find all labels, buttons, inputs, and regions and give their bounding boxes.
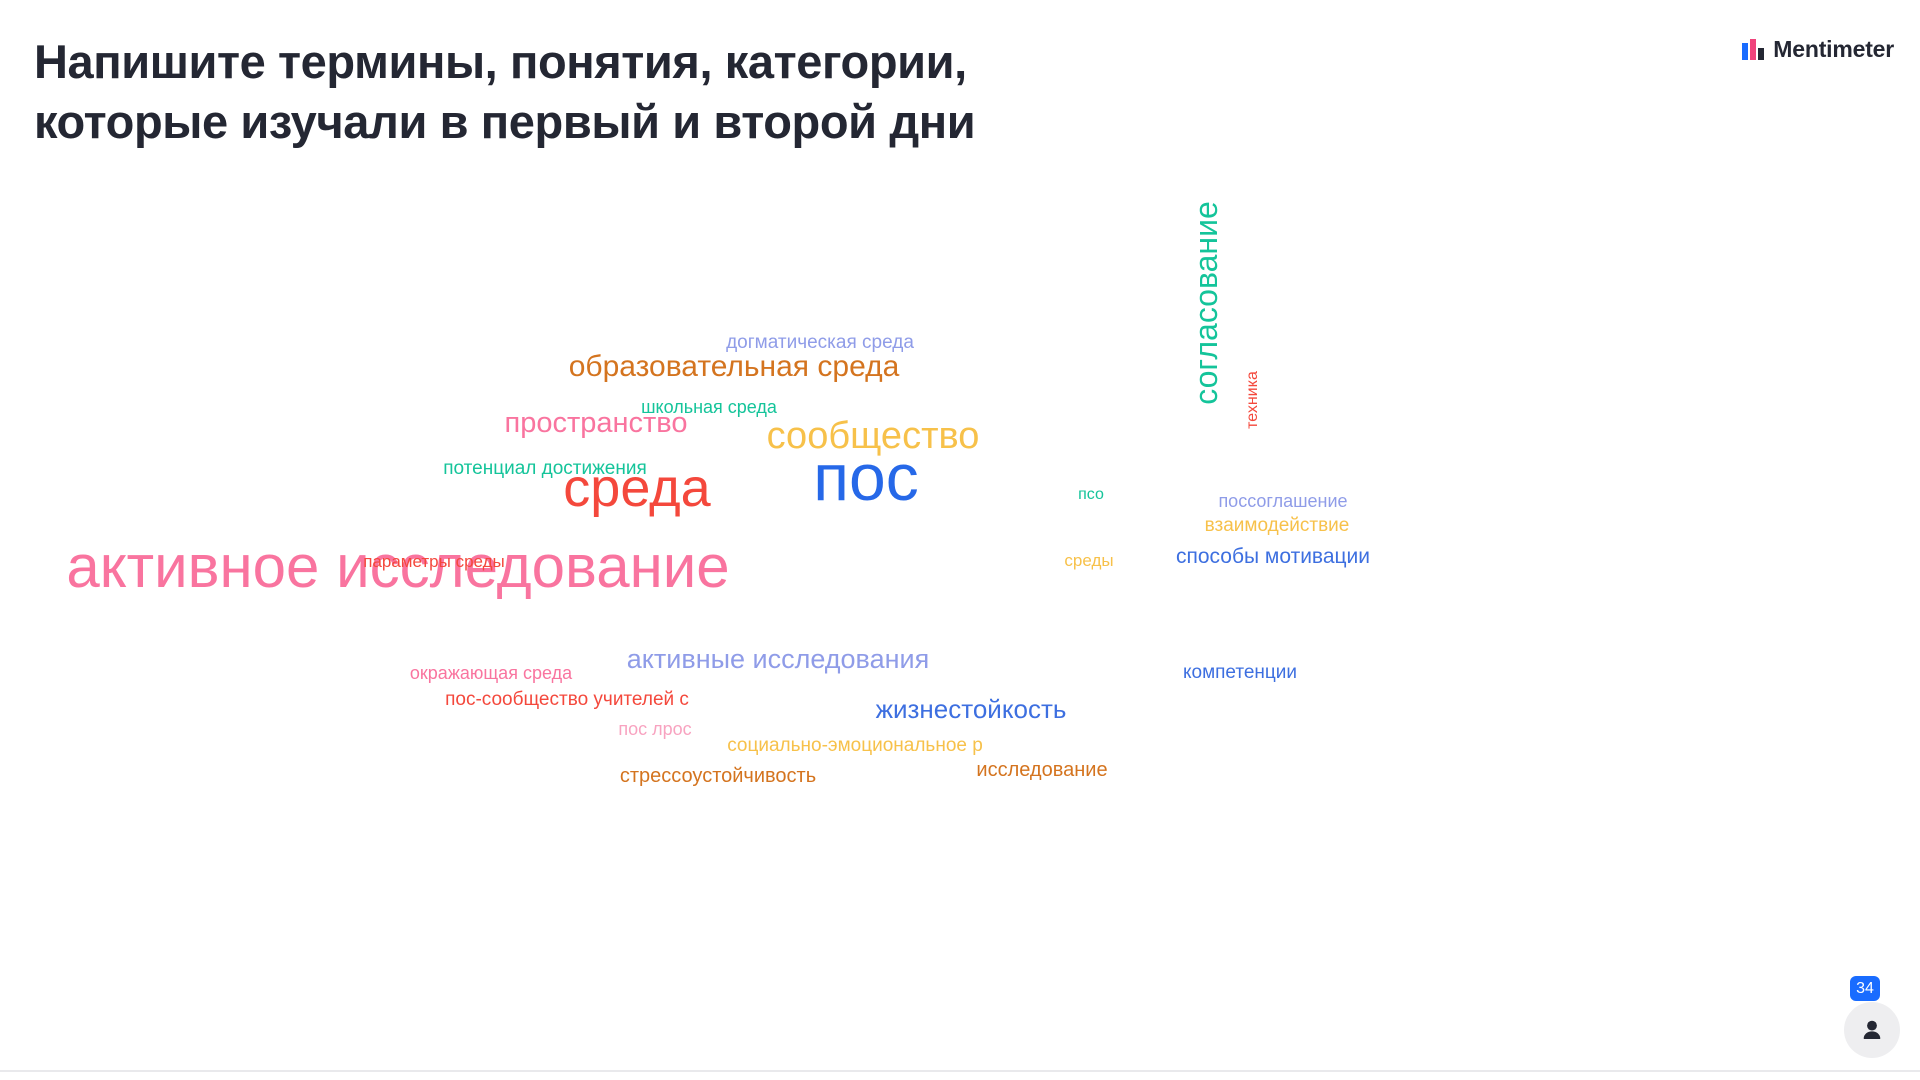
cloud-word: исследование: [976, 760, 1107, 780]
cloud-word: параметры среды: [363, 553, 505, 570]
cloud-word: образовательная среда: [569, 352, 900, 382]
cloud-word: школьная среда: [641, 398, 777, 416]
cloud-word: техника: [1245, 371, 1261, 429]
person-icon: [1844, 1002, 1900, 1058]
cloud-word: среды: [1064, 552, 1113, 569]
cloud-word: пос-сообщество учителей с: [445, 690, 689, 709]
title-line-2: которые изучали в первый и второй дни: [34, 92, 1534, 152]
presentation-slide: Напишите термины, понятия, категории, ко…: [0, 0, 1920, 1080]
cloud-word: взаимодействие: [1205, 516, 1350, 535]
cloud-word: окражающая среда: [410, 664, 572, 682]
mentimeter-wordmark: Mentimeter: [1773, 36, 1894, 63]
page-title: Напишите термины, понятия, категории, ко…: [34, 32, 1534, 152]
cloud-word: пос лрос: [618, 720, 691, 738]
cloud-word: псо: [1078, 487, 1104, 503]
cloud-word: стрессоустойчивость: [620, 766, 816, 786]
participant-counter[interactable]: 34: [1844, 976, 1900, 1058]
word-cloud: активное исследованиепоссредасообществоо…: [0, 0, 1920, 1080]
cloud-word: активные исследования: [627, 646, 929, 673]
cloud-word: догматическая среда: [726, 333, 914, 352]
cloud-word: согласование: [1190, 201, 1222, 405]
slide-divider: [0, 1070, 1920, 1072]
cloud-word: жизнестойкость: [876, 696, 1067, 722]
mentimeter-logo: Mentimeter: [1742, 36, 1894, 63]
cloud-word: сообщество: [767, 417, 980, 455]
title-line-1: Напишите термины, понятия, категории,: [34, 32, 1534, 92]
mentimeter-mark-icon: [1742, 39, 1764, 60]
cloud-word: поссоглашение: [1218, 492, 1347, 510]
cloud-word: социально-эмоциональное р: [727, 736, 983, 755]
cloud-word: способы мотивации: [1176, 546, 1370, 567]
cloud-word: компетенции: [1183, 663, 1297, 682]
cloud-word: потенциал достижения: [443, 459, 647, 478]
participant-count-badge: 34: [1850, 976, 1880, 1001]
